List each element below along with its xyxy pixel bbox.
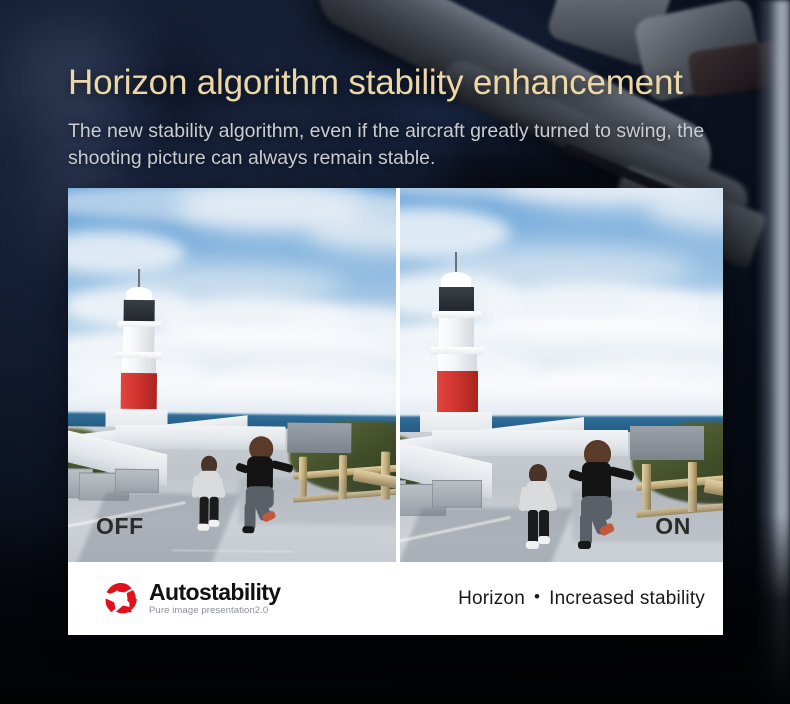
brand-text: Autostability Pure image presentation2.0 (149, 581, 280, 616)
runner-leg-left (199, 497, 208, 527)
terrace-wall-dark-panel (287, 423, 351, 454)
runner-leg-left (528, 510, 538, 544)
photo-stabilization-on (400, 188, 723, 562)
page-title: Horizon algorithm stability enhancement (68, 64, 780, 102)
brand-lockup: Autostability Pure image presentation2.0 (104, 581, 280, 616)
feature-tagline-separator: • (534, 587, 540, 607)
lighthouse-antenna (455, 252, 457, 274)
runner-arm-right (270, 460, 293, 473)
runner-shoe-left (242, 526, 254, 533)
lighthouse-dome (441, 272, 471, 288)
label-on: ON (655, 513, 691, 540)
runner-child (190, 456, 231, 534)
stone-slab (432, 480, 482, 508)
lighthouse-upper-body (439, 318, 474, 348)
runner-child (518, 464, 562, 552)
card-footer: Autostability Pure image presentation2.0… (68, 562, 723, 635)
page-subtitle: The new stability algorithm, even if the… (68, 118, 728, 172)
runner-shoe-left (526, 541, 539, 549)
stone-slab (115, 469, 159, 493)
terrace-wall-dark-panel (630, 426, 704, 460)
feature-tagline: Horizon•Increased stability (458, 588, 705, 610)
feature-tagline-left: Horizon (458, 588, 525, 609)
lighthouse-lantern-room (124, 300, 155, 322)
comparison-card: OFF (68, 188, 723, 635)
runner-arm-right (608, 466, 634, 481)
brand-tagline: Pure image presentation2.0 (149, 605, 280, 616)
lighthouse-lantern-room (439, 287, 474, 312)
lighthouse-mid-body (122, 358, 156, 374)
comparison-pane-on[interactable]: ON (400, 188, 723, 562)
runner-adult (232, 436, 293, 533)
promo-page: Horizon algorithm stability enhancement … (0, 0, 790, 704)
lighthouse-mid-body (438, 354, 477, 372)
aperture-icon (104, 581, 138, 615)
label-off: OFF (96, 513, 144, 540)
runner-torso (582, 462, 611, 500)
photo-stabilization-off (68, 188, 396, 562)
lighthouse-upper-body (123, 327, 154, 353)
comparison-pane-off[interactable]: OFF (68, 188, 396, 562)
runner-adult (566, 440, 634, 548)
runner-shoe-left (578, 541, 591, 549)
brand-name: Autostability (149, 581, 280, 604)
before-after-comparison: OFF (68, 188, 723, 562)
runner-shoe-right (538, 536, 550, 544)
feature-tagline-right: Increased stability (549, 588, 705, 609)
runner-shoe-right (208, 520, 219, 527)
